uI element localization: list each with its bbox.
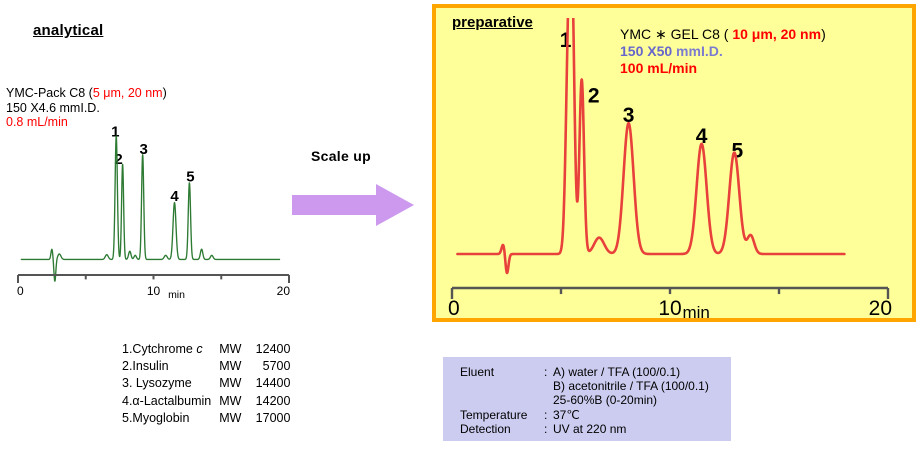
axis-tick-label: 20 xyxy=(869,297,892,318)
compound-mw-label: MW xyxy=(219,393,248,410)
analytical-trace xyxy=(21,136,279,281)
conditions-label: Eluent xyxy=(460,365,544,408)
conditions-value: A) water / TFA (100/0.1)B) acetonitrile … xyxy=(553,365,709,408)
conditions-row: Temperature:37℃ xyxy=(460,408,709,422)
conditions-value: UV at 220 nm xyxy=(553,422,709,436)
conditions-label: Detection xyxy=(460,422,544,436)
axis-tick-label: 20 xyxy=(277,284,291,298)
compound-name: 1.Cytchrome c xyxy=(122,341,219,358)
compound-name-italic: c xyxy=(196,342,202,356)
preparative-peak-labels: 12345 xyxy=(560,29,744,163)
conditions-row: Eluent:A) water / TFA (100/0.1)B) aceton… xyxy=(460,365,709,408)
axis-tick-label: 10 xyxy=(147,284,161,298)
analytical-axis: 01020min xyxy=(17,275,290,301)
axis-unit-label: min xyxy=(682,303,709,318)
peak-label-1: 1 xyxy=(111,124,119,141)
conditions-label: Temperature xyxy=(460,408,544,422)
conditions-separator: : xyxy=(544,422,553,436)
compound-mw-label: MW xyxy=(219,358,248,375)
compound-mw-value: 12400 xyxy=(248,341,290,358)
arrow-shape xyxy=(292,184,414,226)
axis-tick-label: 0 xyxy=(17,284,24,298)
peak-label-1: 1 xyxy=(560,29,572,52)
peak-label-5: 5 xyxy=(186,168,194,185)
compound-name: 3. Lysozyme xyxy=(122,375,219,392)
compound-row: 1.Cytchrome cMW12400 xyxy=(122,341,290,358)
method-conditions-box: Eluent:A) water / TFA (100/0.1)B) aceton… xyxy=(443,357,731,441)
compound-mw-value: 14200 xyxy=(248,393,290,410)
peak-label-2: 2 xyxy=(588,85,600,108)
scale-up-arrow-icon xyxy=(292,182,414,228)
conditions-value-line: 25-60%B (0-20min) xyxy=(553,393,709,407)
compound-mw-label: MW xyxy=(219,410,248,427)
conditions-value: 37℃ xyxy=(553,408,709,422)
conditions-table: Eluent:A) water / TFA (100/0.1)B) aceton… xyxy=(460,365,709,436)
conditions-separator: : xyxy=(544,408,553,422)
compound-name: 4.α-Lactalbumin xyxy=(122,393,219,410)
compound-mw-label: MW xyxy=(219,375,248,392)
compound-mw-value: 17000 xyxy=(248,410,290,427)
conditions-separator: : xyxy=(544,365,553,408)
axis-tick-label: 10 xyxy=(658,297,681,318)
conditions-value-line: 37℃ xyxy=(553,408,709,422)
conditions-value-line: B) acetonitrile / TFA (100/0.1) xyxy=(553,379,709,393)
analytical-column-line: YMC-Pack C8 (5 μm, 20 nm) xyxy=(6,86,167,101)
analytical-panel-title: analytical xyxy=(33,22,103,39)
compound-name: 2.Insulin xyxy=(122,358,219,375)
analytical-chromatogram: 12345 01020min xyxy=(8,112,298,307)
analytical-particle-spec: 5 μm, 20 nm xyxy=(93,86,163,100)
analytical-paren-close: ) xyxy=(163,86,167,100)
compound-mw-value: 14400 xyxy=(248,375,290,392)
conditions-row: Detection:UV at 220 nm xyxy=(460,422,709,436)
compound-mw-label: MW xyxy=(219,341,248,358)
compound-table: 1.Cytchrome cMW124002.InsulinMW57003. Ly… xyxy=(122,341,290,427)
compound-row: 4.α-LactalbuminMW14200 xyxy=(122,393,290,410)
preparative-axis: 01020min xyxy=(448,288,892,318)
compound-name: 5.Myoglobin xyxy=(122,410,219,427)
conditions-value-line: UV at 220 nm xyxy=(553,422,709,436)
compound-legend-table: 1.Cytchrome cMW124002.InsulinMW57003. Ly… xyxy=(122,341,290,427)
analytical-column-name: YMC-Pack C8 ( xyxy=(6,86,93,100)
conditions-table-body: Eluent:A) water / TFA (100/0.1)B) aceton… xyxy=(460,365,709,436)
scale-up-label: Scale up xyxy=(311,148,371,164)
compound-row: 5.MyoglobinMW17000 xyxy=(122,410,290,427)
compound-row: 3. LysozymeMW14400 xyxy=(122,375,290,392)
conditions-value-line: A) water / TFA (100/0.1) xyxy=(553,365,709,379)
compound-table-body: 1.Cytchrome cMW124002.InsulinMW57003. Ly… xyxy=(122,341,290,427)
compound-row: 2.InsulinMW5700 xyxy=(122,358,290,375)
axis-tick-label: 0 xyxy=(448,297,460,318)
compound-mw-value: 5700 xyxy=(248,358,290,375)
axis-unit-label: min xyxy=(168,289,185,301)
peak-label-3: 3 xyxy=(139,141,147,158)
preparative-trace xyxy=(457,18,844,273)
preparative-chromatogram: 12345 01020min xyxy=(440,18,912,318)
